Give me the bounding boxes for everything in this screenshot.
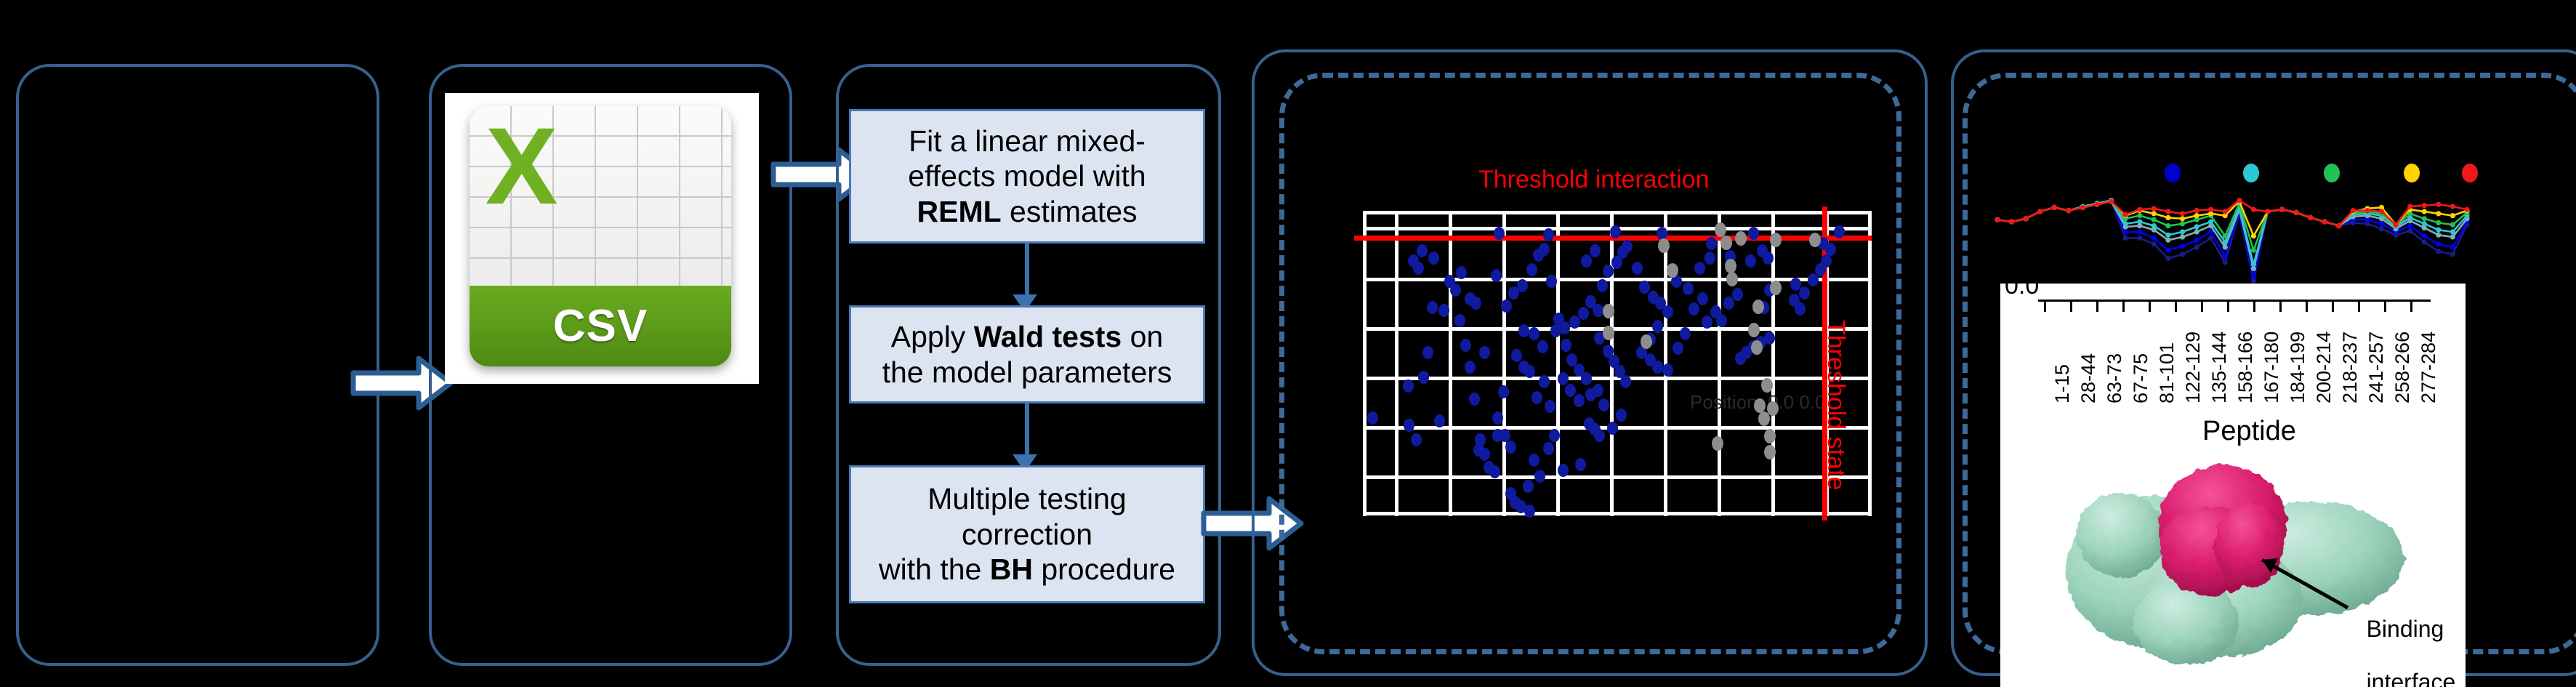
csv-label-text: CSV	[553, 300, 648, 352]
line-point	[2094, 202, 2099, 207]
peptide-structure-card: 0.0 1-1528-4463-7367-7581-101122-129135-…	[2000, 284, 2466, 687]
legend-dot-1	[2165, 164, 2181, 182]
binding-interface-label: Binding interface	[2340, 589, 2455, 687]
line-point	[2165, 256, 2170, 261]
line-point	[2294, 210, 2299, 215]
line-point	[2237, 198, 2242, 203]
line-point	[2379, 221, 2384, 226]
wald-line1-post: on	[1122, 320, 1163, 353]
line-point	[2407, 228, 2412, 233]
peptide-tick-label: 135-144	[2208, 332, 2231, 403]
grid-v	[1449, 211, 1452, 516]
line-point	[2180, 221, 2185, 226]
fit-model-line1: Fit a linear mixed-	[909, 124, 1146, 158]
line-point	[2336, 223, 2341, 228]
line-point	[2037, 209, 2042, 214]
wald-bold: Wald tests	[974, 320, 1122, 353]
connector-1	[1025, 244, 1029, 297]
line-point	[2024, 216, 2029, 221]
line-point	[2450, 244, 2455, 249]
step-wald-tests: Apply Wald tests on the model parameters	[849, 305, 1205, 403]
line-point	[2194, 213, 2199, 218]
y-axis-first-tick-label: 0.0	[2005, 284, 2039, 300]
line-point	[2464, 207, 2469, 212]
bh-line1: Multiple testing	[927, 482, 1126, 515]
line-point	[2279, 207, 2285, 212]
line-point	[2251, 262, 2256, 267]
line-point	[2137, 236, 2142, 241]
step-fit-model: Fit a linear mixed- effects model with R…	[849, 109, 1205, 244]
line-point	[2194, 244, 2199, 249]
line-point	[2251, 248, 2256, 253]
line-point	[2123, 221, 2128, 226]
line-point	[2194, 224, 2199, 229]
line-point	[2165, 209, 2170, 214]
line-point	[2450, 213, 2455, 218]
line-point	[2308, 215, 2313, 220]
line-point	[2436, 233, 2441, 238]
line-point	[2208, 207, 2213, 212]
line-point	[2436, 202, 2441, 207]
peptide-tick-label: 184-199	[2287, 332, 2309, 403]
line-point	[2407, 204, 2412, 209]
line-point	[2137, 229, 2142, 234]
line-point	[2223, 244, 2228, 249]
line-point	[2180, 211, 2185, 216]
binding-label-line2: interface	[2367, 669, 2456, 687]
peptide-tick-label: 67-75	[2130, 353, 2152, 403]
csv-label-band: CSV	[470, 286, 731, 366]
line-point	[2322, 219, 2327, 224]
line-point	[2364, 208, 2370, 213]
line-point	[2165, 223, 2170, 228]
line-point	[2152, 217, 2157, 222]
line-point	[2394, 222, 2399, 228]
line-point	[2422, 233, 2427, 238]
line-point	[2194, 208, 2199, 213]
line-point	[2137, 207, 2142, 212]
line-point	[2066, 208, 2071, 213]
legend-dot-3	[2324, 164, 2340, 182]
peptide-tick-label: 241-257	[2365, 332, 2388, 403]
legend-dot-5	[2462, 164, 2478, 182]
step-bh-correction: Multiple testing correction with the BH …	[849, 465, 1205, 603]
bh-line3-pre: with the	[879, 553, 990, 586]
peptide-tick-label: 158-166	[2234, 332, 2257, 403]
line-point	[2152, 211, 2157, 216]
line-point	[2450, 204, 2455, 209]
line-point	[2450, 229, 2455, 234]
excel-x-glyph: X	[486, 111, 590, 246]
grid-v	[1395, 211, 1398, 516]
bh-bold: BH	[990, 553, 1033, 586]
peptide-tick-label: 200-214	[2313, 332, 2335, 403]
grid-h	[1363, 512, 1872, 515]
line-point	[2152, 236, 2157, 241]
threshold-interaction-label: Threshold interaction	[1478, 166, 1710, 194]
peptide-tick-label: 1-15	[2051, 364, 2074, 403]
line-point	[2265, 209, 2270, 214]
grid-h	[1363, 211, 1872, 214]
line-point	[2379, 209, 2384, 214]
line-point	[2137, 213, 2142, 218]
line-point	[2436, 228, 2441, 233]
grid-v	[1363, 211, 1367, 516]
grid-v	[1868, 211, 1872, 516]
line-point	[2422, 216, 2427, 221]
legend-dot-4	[2404, 164, 2420, 182]
fit-model-reml: REML	[917, 195, 1002, 228]
csv-file-icon: X CSV	[470, 106, 731, 366]
line-point	[2180, 244, 2185, 249]
line-point	[2165, 238, 2170, 243]
line-point	[2180, 229, 2185, 234]
line-point	[2379, 226, 2384, 231]
line-point	[2165, 248, 2170, 253]
fit-model-line2: effects model with	[908, 159, 1146, 193]
grid-v	[1502, 211, 1506, 516]
peptide-line-chart	[1993, 185, 2473, 287]
line-point	[2422, 203, 2427, 208]
line-point	[2251, 274, 2256, 279]
line-point	[2165, 215, 2170, 220]
legend-dot-2	[2243, 164, 2259, 182]
line-point	[2436, 220, 2441, 225]
line-point	[2009, 219, 2014, 224]
peptide-tick-label: 277-284	[2418, 332, 2440, 403]
line-point	[2194, 238, 2199, 243]
peptide-tick-label: 167-180	[2261, 332, 2283, 403]
line-point	[2251, 207, 2256, 212]
line-point	[2251, 233, 2256, 238]
csv-image-frame: X CSV	[445, 93, 759, 384]
line-point	[2450, 252, 2455, 257]
line-point	[2152, 241, 2157, 246]
line-series	[1997, 201, 2467, 281]
line-point	[2422, 221, 2427, 226]
line-point	[2223, 239, 2228, 244]
line-point	[2123, 212, 2128, 217]
line-point	[2152, 223, 2157, 228]
peptide-tick-label: 81-101	[2156, 342, 2178, 403]
binding-label-line1: Binding	[2367, 616, 2444, 642]
peptide-tick-label: 258-266	[2391, 332, 2414, 403]
x-axis-title: Peptide	[2202, 416, 2296, 447]
line-point	[2450, 222, 2455, 228]
input-panel	[16, 64, 379, 666]
line-point	[2080, 205, 2085, 210]
peptide-tick-label: 122-129	[2182, 332, 2205, 403]
grid-v	[1718, 211, 1721, 516]
bh-line2: correction	[962, 518, 1092, 551]
line-point	[2208, 219, 2213, 224]
threshold-scatter-plot: Position: 0.0 0.0	[1363, 211, 1872, 516]
line-point	[2407, 223, 2412, 228]
peptide-tick-label: 63-73	[2104, 353, 2126, 403]
line-point	[2123, 229, 2128, 234]
wald-line1-pre: Apply	[891, 320, 974, 353]
bh-line3-post: procedure	[1033, 553, 1175, 586]
line-chart-svg	[1993, 185, 2473, 287]
line-point	[2223, 233, 2228, 238]
line-point	[2436, 241, 2441, 246]
line-point	[2180, 216, 2185, 221]
line-point	[2422, 239, 2427, 244]
x-axis-line	[2038, 300, 2431, 302]
line-point	[2180, 252, 2185, 257]
line-point	[2109, 198, 2114, 204]
line-point	[2223, 209, 2228, 214]
threshold-state-label: Threshold state	[1822, 320, 1850, 490]
line-point	[1995, 217, 2000, 222]
peptide-tick-label: 218-237	[2339, 332, 2362, 403]
peptide-tick-label: 28-44	[2077, 353, 2100, 403]
line-point	[2450, 234, 2455, 239]
wald-line2: the model parameters	[882, 355, 1172, 389]
line-point	[2351, 208, 2356, 213]
line-point	[2436, 249, 2441, 254]
line-point	[2152, 206, 2157, 211]
line-point	[2137, 219, 2142, 224]
connector-2	[1025, 403, 1029, 457]
line-point	[2223, 254, 2228, 259]
line-point	[2123, 236, 2128, 241]
line-point	[2223, 260, 2228, 265]
line-point	[2165, 233, 2170, 238]
line-point	[2436, 211, 2441, 216]
line-point	[2052, 205, 2057, 210]
fit-model-line3-post: estimates	[1002, 195, 1138, 228]
grid-h	[1363, 327, 1872, 331]
line-point	[2194, 229, 2199, 234]
line-point	[2422, 209, 2427, 214]
grid-h	[1363, 475, 1872, 479]
line-point	[2180, 234, 2185, 239]
